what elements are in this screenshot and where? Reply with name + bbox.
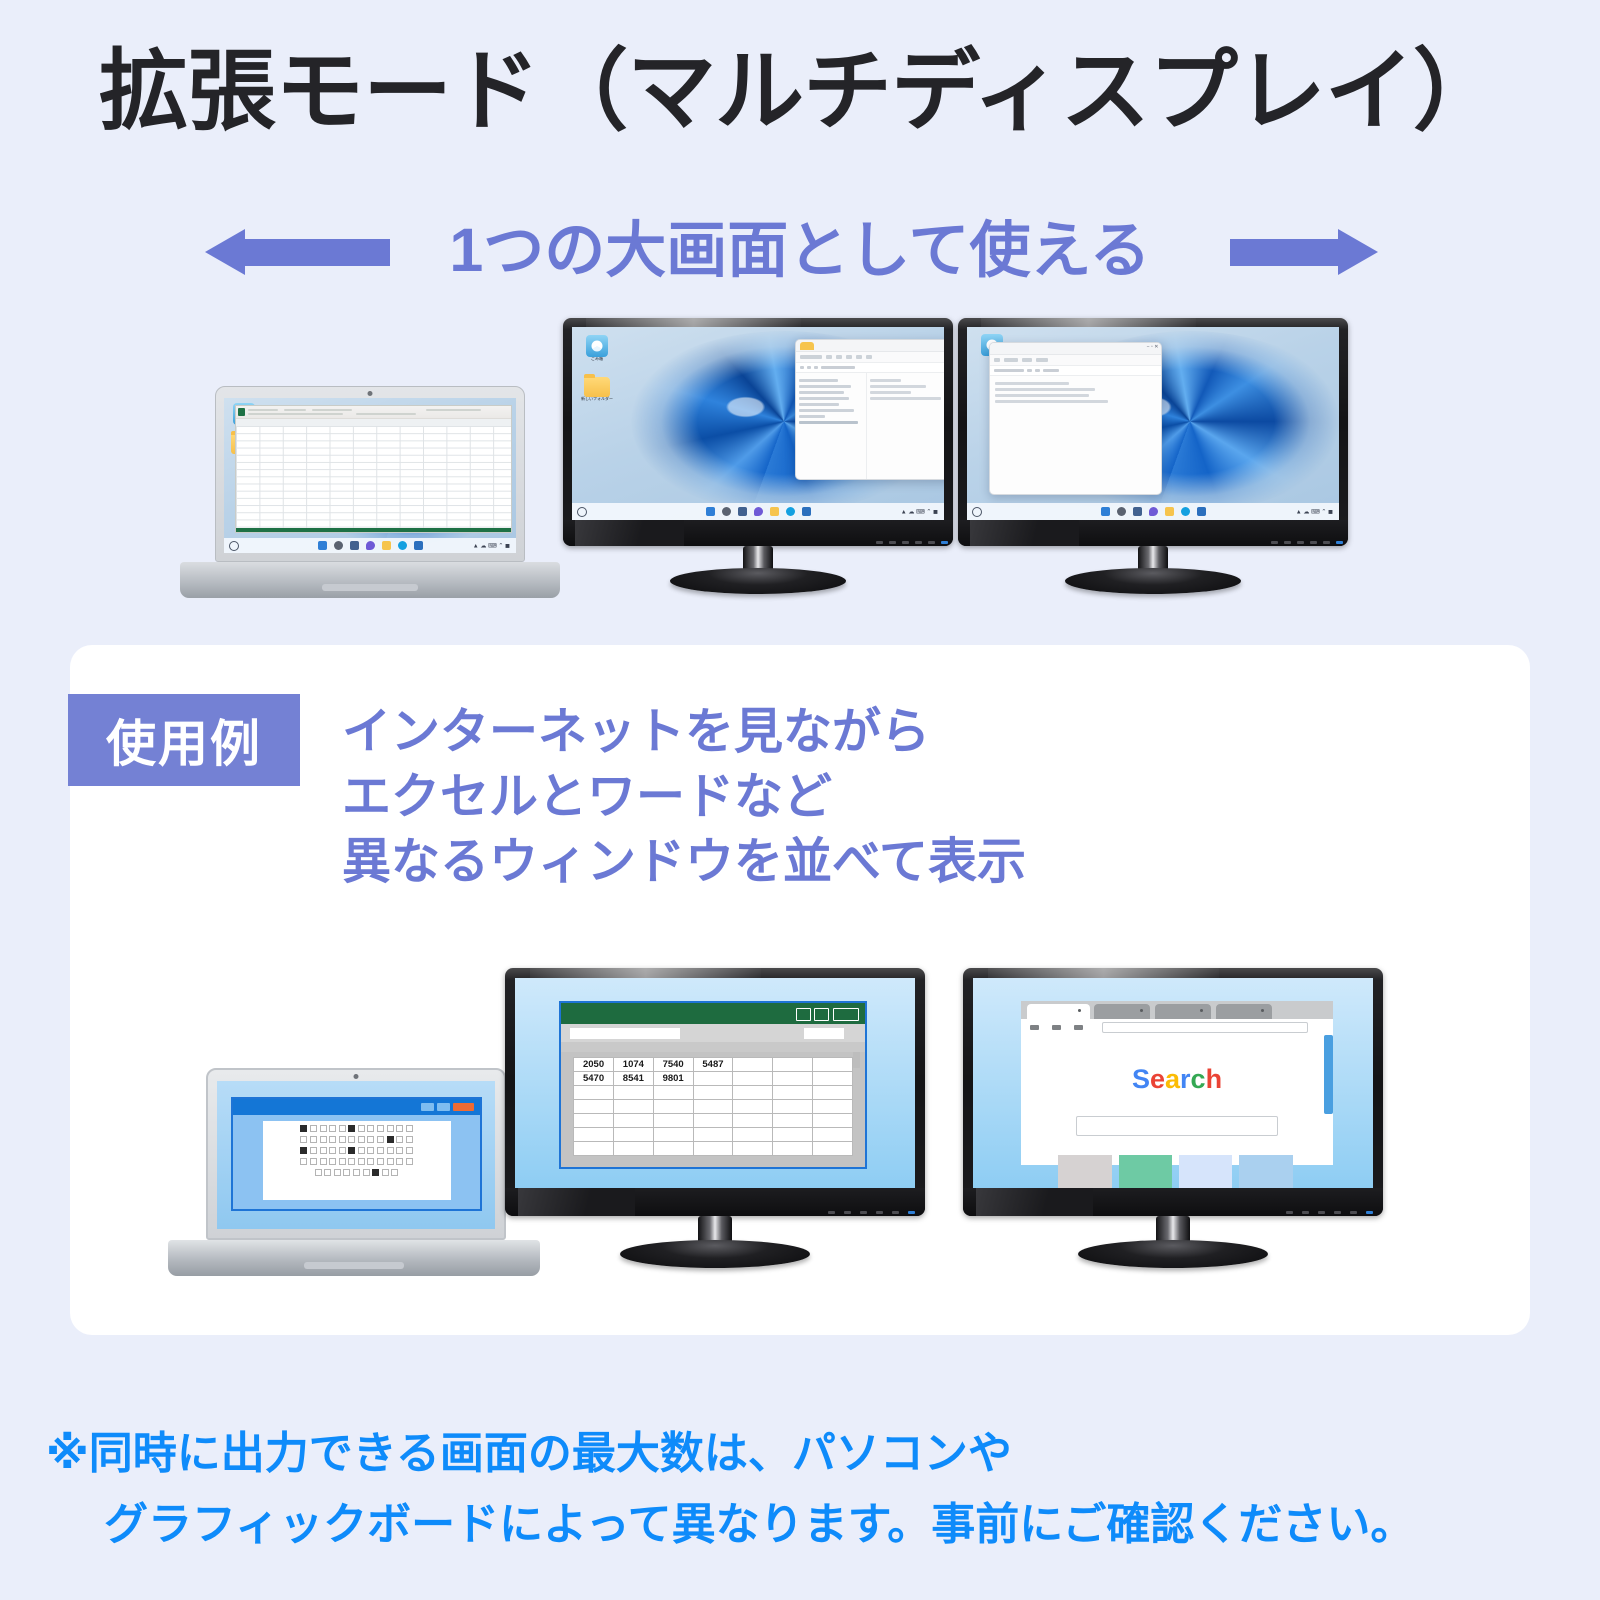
table-cell[interactable] <box>693 1099 733 1113</box>
back-icon[interactable] <box>1030 1025 1039 1030</box>
monitor-bezel: 2050107475405487547085419801 <box>505 968 925 1216</box>
store-icon[interactable] <box>802 507 811 516</box>
word-page <box>263 1121 451 1200</box>
table-cell[interactable] <box>613 1099 653 1113</box>
table-cell[interactable] <box>773 1085 813 1099</box>
table-cell[interactable] <box>733 1099 773 1113</box>
monitor-bezel: − ▫ ✕ <box>958 318 1348 546</box>
table-row[interactable]: 547085419801 <box>574 1071 853 1085</box>
system-tray[interactable]: ▲ ☁ ⌨ ⌃ ◼ <box>473 542 510 549</box>
explorer-nav-pane[interactable] <box>796 373 867 480</box>
monitor-screen: ごみ箱 新しいフォルダー − ▫ ✕ <box>572 327 944 520</box>
browser-tab[interactable] <box>1216 1004 1272 1019</box>
search-icon[interactable] <box>1117 507 1126 516</box>
result-tile[interactable] <box>1239 1155 1292 1188</box>
windows-desktop: ▲ ☁ ⌨ ⌃ ◼ <box>224 398 516 553</box>
start-icon[interactable] <box>318 541 327 550</box>
taskbar[interactable]: ▲ ☁ ⌨ ⌃ ◼ <box>572 503 944 520</box>
top-laptop: ▲ ☁ ⌨ ⌃ ◼ <box>180 386 560 611</box>
monitor-bezel: ごみ箱 新しいフォルダー − ▫ ✕ <box>563 318 953 546</box>
browser-window[interactable]: Search <box>1021 1001 1333 1165</box>
table-cell[interactable]: 8541 <box>613 1071 653 1085</box>
table-cell[interactable] <box>574 1113 614 1127</box>
excel-grid <box>236 426 511 528</box>
excel-table[interactable]: 2050107475405487547085419801 <box>573 1057 853 1156</box>
taskbar[interactable]: ▲ ☁ ⌨ ⌃ ◼ <box>967 503 1339 520</box>
explorer-file-list[interactable] <box>990 376 1161 495</box>
explorer-titlebar[interactable]: − ▫ ✕ <box>796 340 944 352</box>
maximize-button[interactable] <box>814 1008 829 1021</box>
laptop-lid: ▲ ☁ ⌨ ⌃ ◼ <box>215 386 525 562</box>
table-cell[interactable] <box>613 1127 653 1141</box>
table-cell[interactable] <box>613 1085 653 1099</box>
forward-icon[interactable] <box>1052 1025 1061 1030</box>
result-tile[interactable] <box>1119 1155 1172 1188</box>
table-cell[interactable] <box>812 1057 852 1071</box>
table-cell[interactable] <box>574 1099 614 1113</box>
laptop-screen <box>217 1081 495 1229</box>
table-cell[interactable] <box>693 1071 733 1085</box>
page-title: 拡張モード（マルチディスプレイ） <box>0 42 1600 142</box>
table-row[interactable] <box>574 1085 853 1099</box>
laptop-screen: ▲ ☁ ⌨ ⌃ ◼ <box>224 398 516 553</box>
table-cell[interactable] <box>773 1057 813 1071</box>
monitor-base <box>670 568 846 594</box>
logo-letter: a <box>1165 1064 1180 1094</box>
explorer-addressbar[interactable] <box>990 366 1161 376</box>
table-row[interactable] <box>574 1113 853 1127</box>
table-cell[interactable] <box>653 1099 693 1113</box>
excel-window[interactable]: 2050107475405487547085419801 <box>559 1001 867 1169</box>
taskbar[interactable]: ▲ ☁ ⌨ ⌃ ◼ <box>224 538 516 553</box>
table-cell[interactable] <box>574 1141 614 1155</box>
monitor-base <box>620 1240 810 1268</box>
text-line <box>263 1169 451 1176</box>
excel-titlebar[interactable] <box>561 1003 865 1024</box>
weather-widget[interactable] <box>577 507 587 517</box>
explorer-toolbar[interactable] <box>796 352 944 363</box>
text-line <box>263 1125 451 1132</box>
usecase-text: インターネットを見ながら エクセルとワードなど 異なるウィンドウを並べて表示 <box>342 700 1442 895</box>
laptop-trackpad <box>304 1262 404 1269</box>
table-cell[interactable] <box>812 1071 852 1085</box>
bottom-monitor-excel: 2050107475405487547085419801 <box>505 968 925 1268</box>
browser-tab[interactable] <box>1155 1004 1211 1019</box>
start-icon[interactable] <box>1101 507 1110 516</box>
monitor-screen: Search <box>973 978 1373 1188</box>
arrow-right-icon <box>1230 229 1378 275</box>
explorer-icon[interactable] <box>382 541 391 550</box>
excel-formula-bar[interactable] <box>561 1024 865 1042</box>
table-cell[interactable] <box>812 1113 852 1127</box>
table-cell[interactable] <box>773 1071 813 1085</box>
excel-status-bar <box>236 528 511 532</box>
browser-tabstrip[interactable] <box>1021 1001 1333 1019</box>
name-box[interactable] <box>570 1028 679 1040</box>
infographic-page: 拡張モード（マルチディスプレイ） 1つの大画面として使える <box>0 0 1600 1600</box>
result-tiles <box>1058 1155 1295 1188</box>
table-cell[interactable] <box>653 1113 693 1127</box>
table-cell[interactable] <box>693 1113 733 1127</box>
webcam-icon <box>368 391 373 396</box>
address-bar[interactable] <box>1102 1022 1308 1033</box>
table-cell[interactable] <box>812 1141 852 1155</box>
explorer-file-list[interactable] <box>867 373 944 480</box>
system-tray[interactable]: ▲ ☁ ⌨ ⌃ ◼ <box>901 508 938 515</box>
monitor-chin <box>963 1188 1383 1216</box>
table-row[interactable]: 2050107475405487 <box>574 1057 853 1071</box>
explorer-tab[interactable] <box>800 342 814 350</box>
excel-window[interactable] <box>235 405 512 533</box>
browser-tab[interactable] <box>1094 1004 1150 1019</box>
scrollbar[interactable] <box>1324 1035 1333 1114</box>
laptop-trackpad <box>322 584 418 591</box>
laptop-base <box>180 562 560 598</box>
table-row[interactable] <box>574 1141 853 1155</box>
table-cell[interactable] <box>613 1113 653 1127</box>
table-row[interactable] <box>574 1099 853 1113</box>
start-icon[interactable] <box>706 507 715 516</box>
spreadsheet-body: 2050107475405487547085419801 <box>574 1057 853 1155</box>
explorer-toolbar[interactable] <box>990 355 1161 366</box>
weather-widget[interactable] <box>972 507 982 517</box>
browser-content: Search <box>1021 1035 1333 1164</box>
table-cell[interactable] <box>773 1113 813 1127</box>
chat-icon[interactable] <box>1149 507 1158 516</box>
windows-desktop: ごみ箱 新しいフォルダー − ▫ ✕ <box>572 327 944 520</box>
table-cell[interactable] <box>653 1141 693 1155</box>
monitor-base <box>1078 1240 1268 1268</box>
spreadsheet-table: 2050107475405487547085419801 <box>573 1057 853 1156</box>
explorer-titlebar[interactable]: − ▫ ✕ <box>990 343 1161 355</box>
edge-icon[interactable] <box>786 507 795 516</box>
minimize-button[interactable] <box>796 1008 811 1021</box>
search-input[interactable] <box>1076 1116 1278 1136</box>
window-controls[interactable]: − ▫ ✕ <box>1147 345 1159 350</box>
edge-icon[interactable] <box>1181 507 1190 516</box>
table-cell[interactable] <box>773 1141 813 1155</box>
table-cell[interactable] <box>733 1141 773 1155</box>
scrollbar[interactable] <box>853 1052 860 1068</box>
search-icon[interactable] <box>722 507 731 516</box>
table-cell[interactable]: 9801 <box>653 1071 693 1085</box>
table-cell[interactable] <box>653 1085 693 1099</box>
recycle-bin-icon: ごみ箱 <box>580 335 614 361</box>
usecase-line-3: 異なるウィンドウを並べて表示 <box>342 830 1442 895</box>
explorer-icon[interactable] <box>1165 507 1174 516</box>
monitor-screen: 2050107475405487547085419801 <box>515 978 915 1188</box>
top-monitor-2: − ▫ ✕ <box>958 318 1348 596</box>
top-monitor-1: ごみ箱 新しいフォルダー − ▫ ✕ <box>563 318 953 596</box>
close-button[interactable] <box>453 1103 474 1112</box>
table-cell[interactable] <box>653 1127 693 1141</box>
table-cell[interactable] <box>733 1113 773 1127</box>
footnote-line-2: グラフィックボードによって異なります。事前にご確認ください。 <box>46 1489 1566 1560</box>
table-cell[interactable] <box>812 1099 852 1113</box>
table-cell[interactable]: 2050 <box>574 1057 614 1071</box>
subtitle-row: 1つの大画面として使える <box>0 196 1600 306</box>
table-row[interactable] <box>574 1127 853 1141</box>
monitor-buttons[interactable] <box>876 541 948 544</box>
laptop-base <box>168 1240 540 1276</box>
footnote: ※同時に出力できる画面の最大数は、パソコンや グラフィックボードによって異なりま… <box>46 1418 1566 1561</box>
browser-tab-active[interactable] <box>1027 1004 1089 1019</box>
monitor-buttons[interactable] <box>828 1211 915 1214</box>
reload-icon[interactable] <box>1074 1025 1083 1030</box>
table-cell[interactable] <box>733 1057 773 1071</box>
store-icon[interactable] <box>414 541 423 550</box>
text-line <box>263 1147 451 1154</box>
table-cell[interactable] <box>733 1085 773 1099</box>
store-icon[interactable] <box>1197 507 1206 516</box>
table-cell[interactable] <box>773 1099 813 1113</box>
monitor-base <box>1065 568 1241 594</box>
file-explorer-window[interactable]: − ▫ ✕ <box>795 339 944 480</box>
search-logo: Search <box>1021 1064 1333 1095</box>
file-explorer-window[interactable]: − ▫ ✕ <box>989 342 1162 495</box>
browser-toolbar[interactable] <box>1021 1019 1333 1035</box>
usecase-line-1: インターネットを見ながら <box>342 700 1442 765</box>
monitor-chin <box>563 520 953 546</box>
excel-ribbon <box>236 406 511 419</box>
excel-sheet[interactable]: 2050107475405487547085419801 <box>561 1052 865 1167</box>
usecase-badge: 使用例 <box>68 694 300 786</box>
maximize-button[interactable] <box>437 1103 450 1112</box>
table-cell[interactable]: 5487 <box>693 1057 733 1071</box>
explorer-addressbar[interactable] <box>796 363 944 373</box>
table-cell[interactable]: 1074 <box>613 1057 653 1071</box>
minimize-button[interactable] <box>421 1103 434 1112</box>
explorer-icon[interactable] <box>770 507 779 516</box>
weather-widget[interactable] <box>229 541 239 551</box>
table-cell[interactable]: 7540 <box>653 1057 693 1071</box>
logo-letter: r <box>1180 1064 1191 1094</box>
logo-letter: e <box>1150 1064 1165 1094</box>
logo-letter: S <box>1132 1064 1150 1094</box>
table-cell[interactable] <box>812 1085 852 1099</box>
logo-letter: h <box>1206 1064 1223 1094</box>
table-cell[interactable] <box>693 1141 733 1155</box>
monitor-chin <box>505 1188 925 1216</box>
laptop-lid <box>206 1068 506 1240</box>
taskview-icon[interactable] <box>1133 507 1142 516</box>
monitor-bezel: Search <box>963 968 1383 1216</box>
search-icon[interactable] <box>334 541 343 550</box>
monitor-chin <box>958 520 1348 546</box>
table-cell[interactable] <box>613 1141 653 1155</box>
taskview-icon[interactable] <box>350 541 359 550</box>
close-button[interactable] <box>833 1008 859 1021</box>
edge-icon[interactable] <box>398 541 407 550</box>
bottom-laptop <box>168 1068 540 1290</box>
table-cell[interactable] <box>574 1127 614 1141</box>
word-titlebar[interactable] <box>233 1099 480 1114</box>
formula-input[interactable] <box>804 1028 844 1040</box>
word-window[interactable] <box>231 1097 482 1211</box>
table-cell[interactable] <box>773 1127 813 1141</box>
table-cell[interactable]: 5470 <box>574 1071 614 1085</box>
webcam-icon <box>354 1074 359 1079</box>
monitor-buttons[interactable] <box>1286 1211 1373 1214</box>
footnote-line-1: ※同時に出力できる画面の最大数は、パソコンや <box>46 1429 1012 1478</box>
bottom-monitor-browser: Search <box>963 968 1383 1268</box>
chat-icon[interactable] <box>366 541 375 550</box>
system-tray[interactable]: ▲ ☁ ⌨ ⌃ ◼ <box>1296 508 1333 515</box>
logo-letter: c <box>1191 1064 1206 1094</box>
taskview-icon[interactable] <box>738 507 747 516</box>
excel-column-headers <box>561 1042 865 1052</box>
windows-desktop: − ▫ ✕ <box>967 327 1339 520</box>
monitor-screen: − ▫ ✕ <box>967 327 1339 520</box>
table-cell[interactable] <box>733 1127 773 1141</box>
table-cell[interactable] <box>574 1085 614 1099</box>
text-line <box>263 1158 451 1165</box>
table-cell[interactable] <box>693 1127 733 1141</box>
chat-icon[interactable] <box>754 507 763 516</box>
usecase-line-2: エクセルとワードなど <box>342 765 1442 830</box>
result-tile[interactable] <box>1179 1155 1232 1188</box>
table-cell[interactable] <box>812 1127 852 1141</box>
folder-icon: 新しいフォルダー <box>578 375 616 401</box>
monitor-buttons[interactable] <box>1271 541 1343 544</box>
table-cell[interactable] <box>693 1085 733 1099</box>
result-tile[interactable] <box>1058 1155 1111 1188</box>
table-cell[interactable] <box>733 1071 773 1085</box>
text-line <box>263 1136 451 1143</box>
